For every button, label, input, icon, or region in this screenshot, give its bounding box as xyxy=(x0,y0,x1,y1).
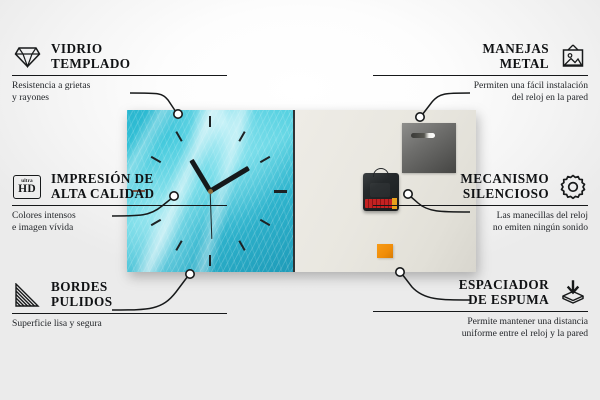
clock-tick xyxy=(238,131,245,142)
feature-header: MANEJAS METAL xyxy=(373,42,588,72)
infographic-canvas: VIDRIO TEMPLADO Resistencia a grietas y … xyxy=(0,0,600,400)
press-down-pad-icon xyxy=(558,278,588,308)
feature-title: BORDES PULIDOS xyxy=(51,280,112,309)
feature-divider xyxy=(12,75,227,76)
clock-tick xyxy=(150,156,161,163)
clock-tick xyxy=(274,190,287,193)
feature-divider xyxy=(373,205,588,206)
ultra-hd-icon-main-text: HD xyxy=(18,184,36,196)
feature-title: ESPACIADOR DE ESPUMA xyxy=(459,278,549,307)
feature-title: MANEJAS METAL xyxy=(482,42,549,71)
feature-description: Colores intensos e imagen vívida xyxy=(12,210,227,233)
feature-description: Las manecillas del reloj no emiten ningú… xyxy=(373,210,588,233)
feature-title: IMPRESIÓN DE ALTA CALIDAD xyxy=(51,172,154,201)
clock-tick xyxy=(259,219,270,226)
gear-icon xyxy=(558,172,588,202)
feature-description: Superficie lisa y segura xyxy=(12,318,227,329)
feature-mecanismo-silencioso[interactable]: MECANISMO SILENCIOSO Las manecillas del … xyxy=(373,172,588,233)
feature-manejas-metal[interactable]: MANEJAS METAL Permiten una fácil instala… xyxy=(373,42,588,103)
feature-divider xyxy=(373,75,588,76)
hanger-slot xyxy=(411,133,435,138)
beveled-edge-icon xyxy=(12,280,42,310)
feature-header: MECANISMO SILENCIOSO xyxy=(373,172,588,202)
feature-divider xyxy=(12,205,227,206)
feature-espaciador-espuma[interactable]: ESPACIADOR DE ESPUMA Permite mantener un… xyxy=(373,278,588,339)
clock-tick xyxy=(238,240,245,251)
clock-tick xyxy=(175,131,182,142)
clock-tick xyxy=(259,156,270,163)
feature-header: VIDRIO TEMPLADO xyxy=(12,42,227,72)
feature-description: Permite mantener una distancia uniforme … xyxy=(373,316,588,339)
clock-tick xyxy=(175,240,182,251)
diamond-icon xyxy=(12,42,42,72)
clock-tick xyxy=(209,116,211,127)
feature-header: ESPACIADOR DE ESPUMA xyxy=(373,278,588,308)
feature-header: BORDES PULIDOS xyxy=(12,280,227,310)
hanging-frame-icon xyxy=(558,42,588,72)
feature-divider xyxy=(12,313,227,314)
feature-divider xyxy=(373,311,588,312)
feature-bordes-pulidos[interactable]: BORDES PULIDOS Superficie lisa y segura xyxy=(12,280,227,330)
feature-description: Permiten una fácil instalación del reloj… xyxy=(373,80,588,103)
feature-header: ultra HD IMPRESIÓN DE ALTA CALIDAD xyxy=(12,172,227,202)
feature-title: VIDRIO TEMPLADO xyxy=(51,42,130,71)
feature-description: Resistencia a grietas y rayones xyxy=(12,80,227,103)
clock-tick xyxy=(209,255,211,266)
ultra-hd-icon: ultra HD xyxy=(12,172,42,202)
feature-vidrio-templado[interactable]: VIDRIO TEMPLADO Resistencia a grietas y … xyxy=(12,42,227,103)
feature-impresion-alta-calidad[interactable]: ultra HD IMPRESIÓN DE ALTA CALIDAD Color… xyxy=(12,172,227,233)
feature-title: MECANISMO SILENCIOSO xyxy=(460,172,549,201)
foam-spacer xyxy=(377,244,393,258)
hanger-plate xyxy=(402,123,456,173)
